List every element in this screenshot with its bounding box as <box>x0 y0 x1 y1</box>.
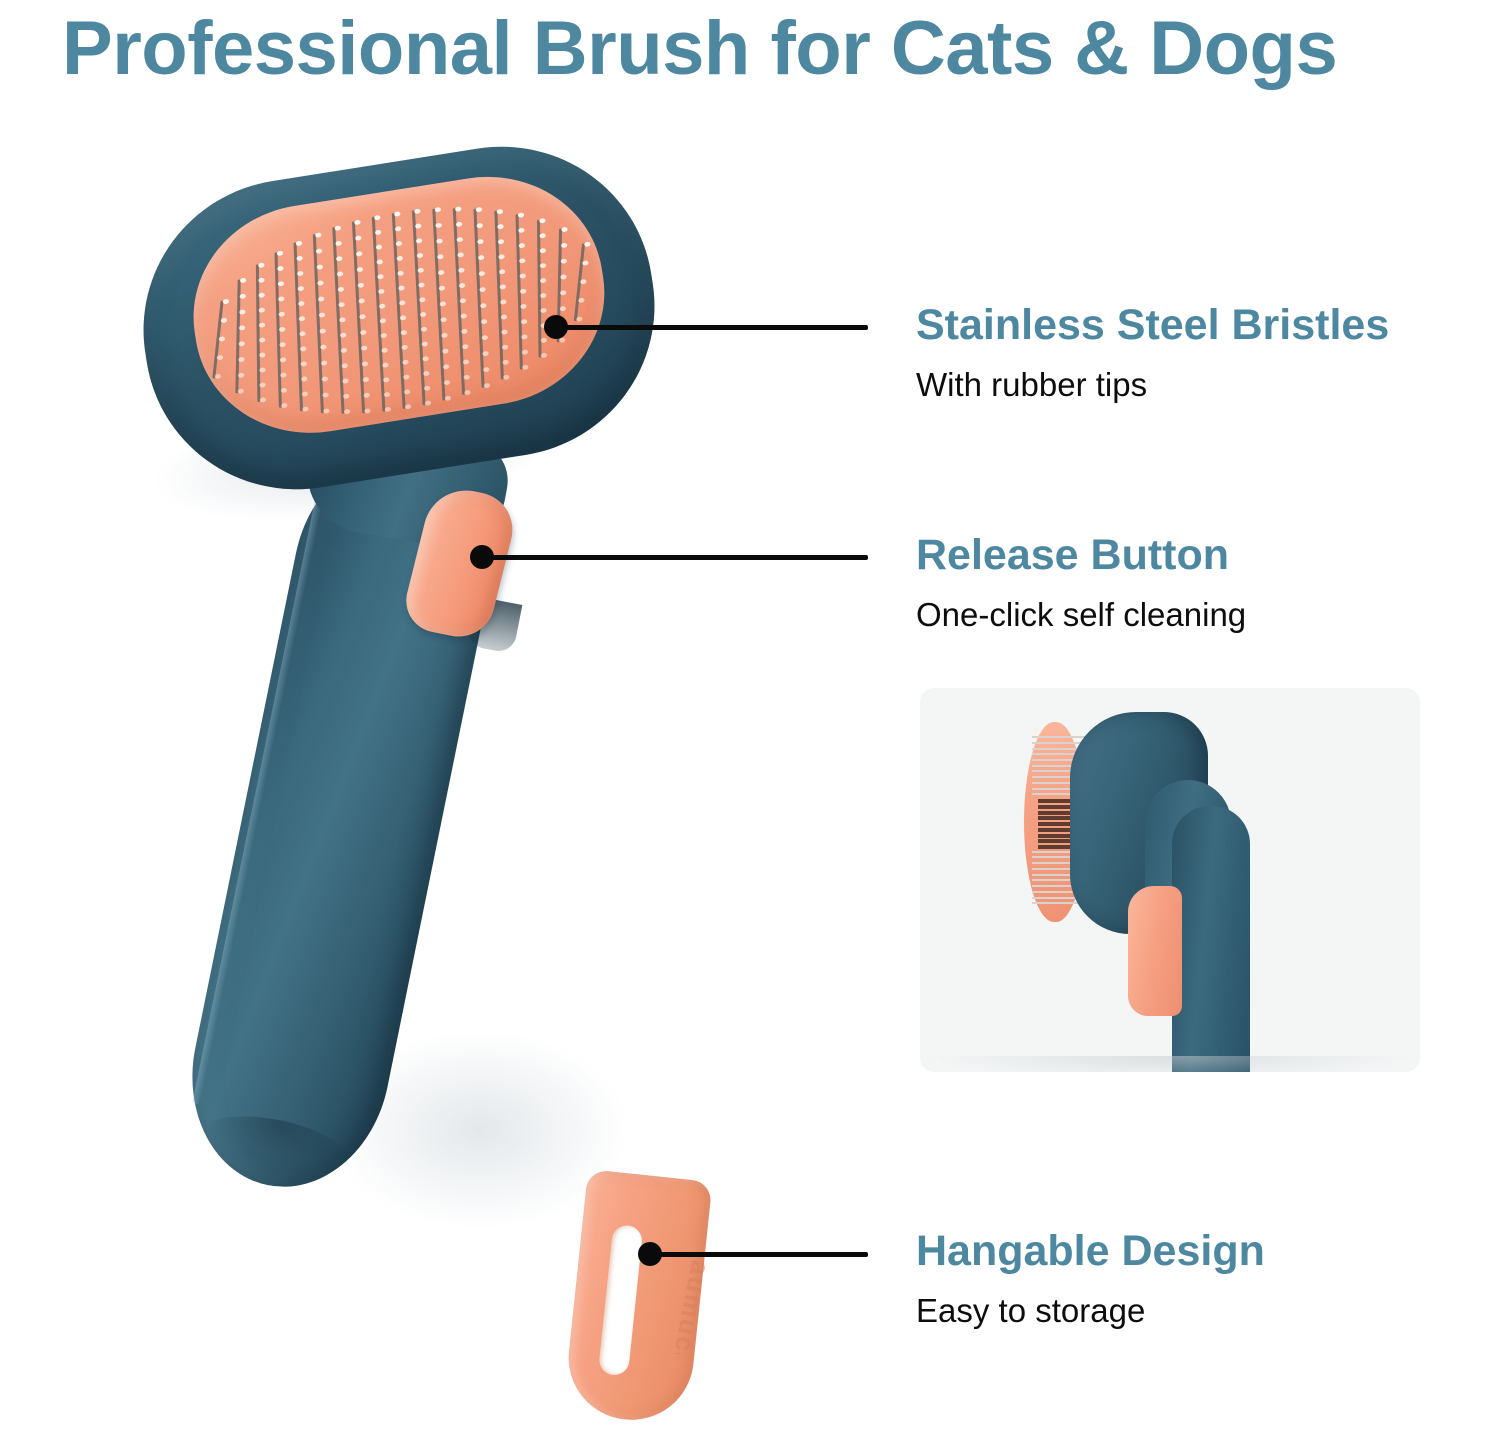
annotation-subtext: One-click self cleaning <box>916 594 1246 636</box>
annotation-stainless-steel-bristles: Stainless Steel Bristles With rubber tip… <box>916 300 1389 406</box>
callout-line-release <box>482 555 868 560</box>
inset-release-button <box>1128 886 1182 1016</box>
inset-shadow <box>920 1056 1420 1072</box>
annotation-release-button: Release Button One-click self cleaning <box>916 530 1246 636</box>
brush-head-shell <box>122 125 676 511</box>
inset-detail-photo <box>920 688 1420 1072</box>
hang-loop: aumuca <box>563 1169 713 1426</box>
callout-line-bristles <box>556 325 868 330</box>
annotation-subtext: Easy to storage <box>916 1290 1265 1332</box>
inset-brush-handle <box>1172 806 1250 1072</box>
bristle-pins-icon <box>178 160 621 450</box>
handle-highlight <box>192 461 331 1105</box>
annotation-heading: Stainless Steel Bristles <box>916 300 1389 350</box>
callout-line-hangable <box>650 1252 868 1257</box>
annotation-subtext: With rubber tips <box>916 364 1389 406</box>
annotation-heading: Release Button <box>916 530 1246 580</box>
brush-bristle-pad <box>178 160 621 450</box>
annotation-heading: Hangable Design <box>916 1226 1265 1276</box>
infographic-canvas: Professional Brush for Cats & Dogs <box>0 0 1500 1430</box>
annotation-hangable-design: Hangable Design Easy to storage <box>916 1226 1265 1332</box>
